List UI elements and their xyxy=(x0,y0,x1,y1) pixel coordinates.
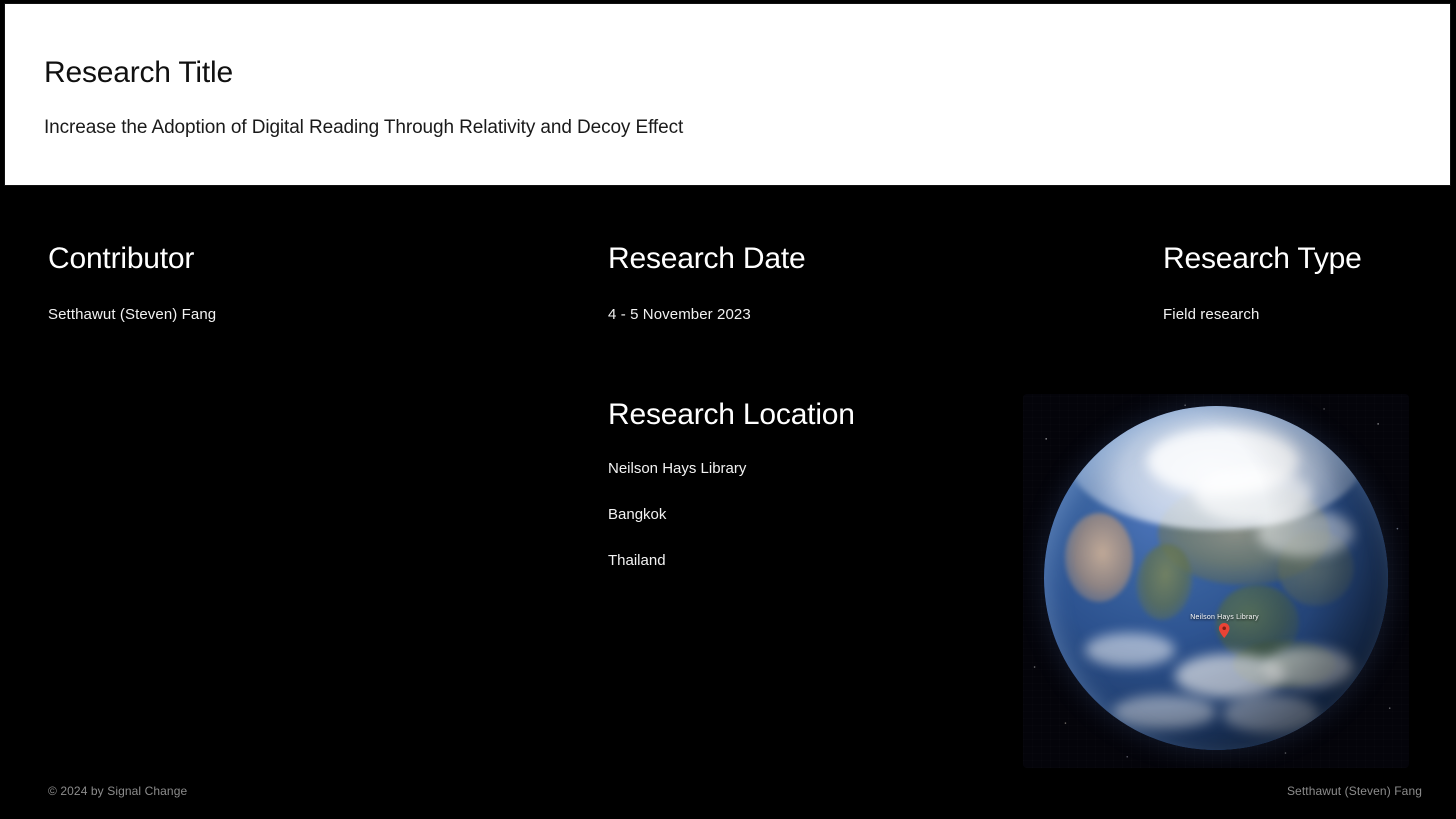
meta-row: Contributor Setthawut (Steven) Fang Rese… xyxy=(0,186,1456,366)
contributor-value: Setthawut (Steven) Fang xyxy=(48,304,216,326)
header-card: Research Title Increase the Adoption of … xyxy=(4,3,1451,186)
location-line-city: Bangkok xyxy=(608,504,746,525)
contributor-heading: Contributor xyxy=(48,240,194,278)
atmosphere-rim-light xyxy=(1044,406,1388,750)
research-location-heading: Research Location xyxy=(608,396,855,434)
location-line-venue: Neilson Hays Library xyxy=(608,458,746,479)
research-date-heading: Research Date xyxy=(608,240,806,278)
research-location-lines: Neilson Hays Library Bangkok Thailand xyxy=(608,458,746,571)
page-title: Research Title xyxy=(44,55,233,91)
footer-copyright: © 2024 by Signal Change xyxy=(48,784,187,798)
research-type-value: Field research xyxy=(1163,304,1259,326)
slide-root: Research Title Increase the Adoption of … xyxy=(0,0,1456,819)
earth-globe: Neilson Hays Library xyxy=(1044,406,1388,750)
research-type-heading: Research Type xyxy=(1163,240,1362,278)
research-date-value: 4 - 5 November 2023 xyxy=(608,304,751,326)
page-subtitle: Increase the Adoption of Digital Reading… xyxy=(44,116,683,141)
footer-author: Setthawut (Steven) Fang xyxy=(1287,784,1422,798)
globe-map-image: Neilson Hays Library xyxy=(1023,394,1409,768)
location-line-country: Thailand xyxy=(608,550,746,571)
